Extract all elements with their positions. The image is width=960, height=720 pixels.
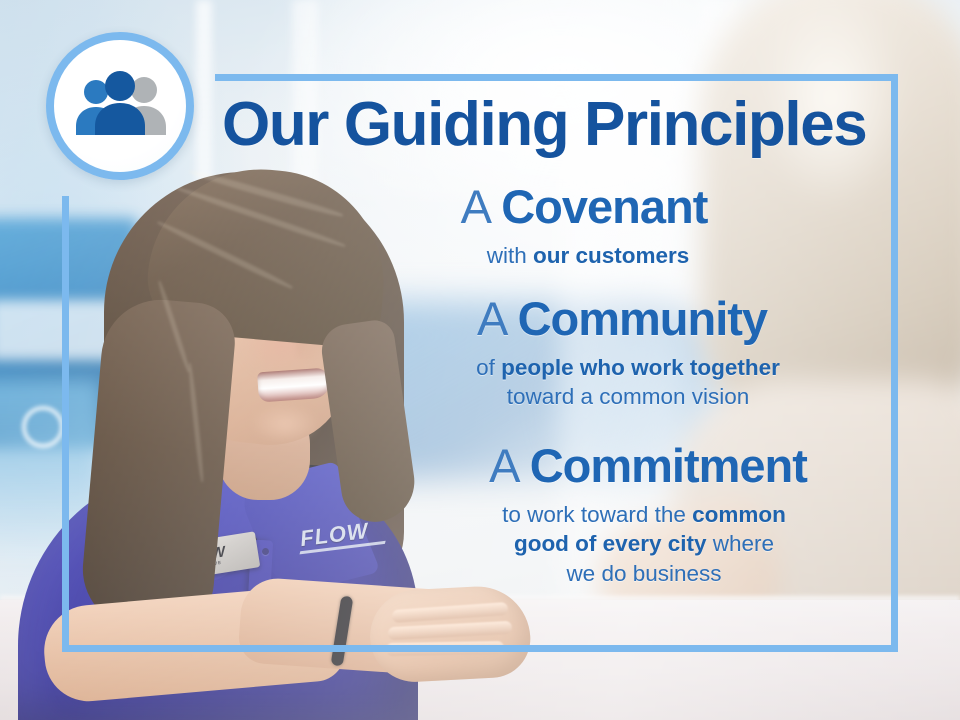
- description-strong: common: [692, 502, 786, 527]
- description-line: good of every city where: [354, 529, 934, 558]
- polo-button: [262, 548, 269, 555]
- principle-keyword: Covenant: [501, 180, 707, 233]
- principle-description: to work toward the common good of every …: [354, 500, 934, 588]
- description-strong: good of every city: [514, 531, 707, 556]
- principle-heading: A Community: [332, 294, 912, 344]
- principle-keyword: Community: [518, 292, 768, 345]
- description-line: we do business: [354, 559, 934, 588]
- principle-description: of people who work together toward a com…: [338, 353, 918, 412]
- principle-covenant: A Covenant with our customers: [294, 182, 874, 270]
- description-strong: people who work together: [501, 355, 780, 380]
- description-line: to work toward the common: [354, 500, 934, 529]
- principle-heading: A Commitment: [358, 441, 938, 491]
- principle-description: with our customers: [298, 241, 878, 270]
- page-title: Our Guiding Principles: [222, 94, 882, 156]
- principle-heading: A Covenant: [294, 182, 874, 232]
- principle-commitment: A Commitment to work toward the common g…: [358, 441, 938, 588]
- principle-keyword: Commitment: [530, 439, 807, 492]
- principle-article: A: [477, 292, 518, 345]
- description-lead: with: [487, 243, 533, 268]
- employee-finger: [386, 641, 504, 656]
- description-line: toward a common vision: [338, 382, 918, 411]
- description-strong: our customers: [533, 243, 689, 268]
- people-group-icon: [68, 70, 172, 142]
- principles-list: A Covenant with our customers A Communit…: [300, 182, 880, 596]
- guiding-principles-poster: FLOW AUTOMOTIVE FLOW: [0, 0, 960, 720]
- principle-article: A: [461, 180, 502, 233]
- principle-community: A Community of people who work together …: [332, 294, 912, 411]
- people-badge: [46, 32, 194, 180]
- description-tail: where: [707, 531, 775, 556]
- principle-article: A: [489, 439, 530, 492]
- description-lead: of: [476, 355, 501, 380]
- description-line: of people who work together: [338, 353, 918, 382]
- description-lead: to work toward the: [502, 502, 692, 527]
